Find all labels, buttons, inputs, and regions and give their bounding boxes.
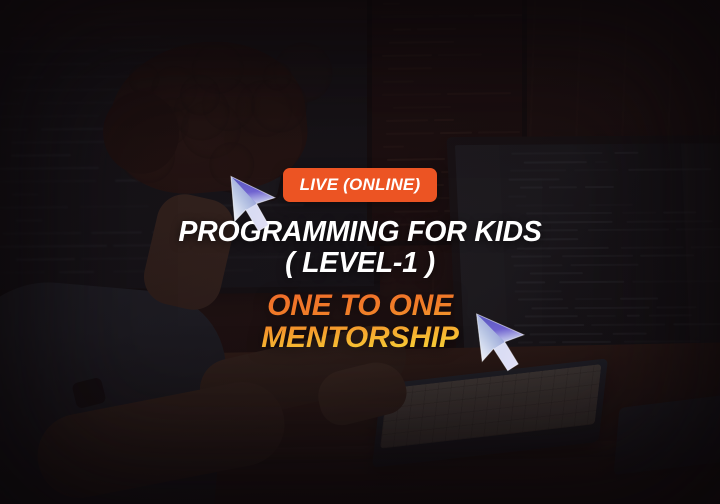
promo-banner: LIVE (ONLINE) PROGRAMMING FOR KIDS ( LEV… (0, 0, 720, 504)
subtitle-line-1: ONE TO ONE (267, 289, 453, 322)
mouse-cursor-icon (468, 302, 540, 376)
banner-content: LIVE (ONLINE) PROGRAMMING FOR KIDS ( LEV… (0, 168, 720, 354)
headline-line-2: ( LEVEL-1 ) (178, 248, 541, 279)
mouse-cursor-icon (222, 166, 290, 236)
subtitle: ONE TO ONE MENTORSHIP (261, 290, 458, 354)
live-online-badge[interactable]: LIVE (ONLINE) (283, 168, 438, 202)
subtitle-line-2: MENTORSHIP (261, 322, 458, 354)
